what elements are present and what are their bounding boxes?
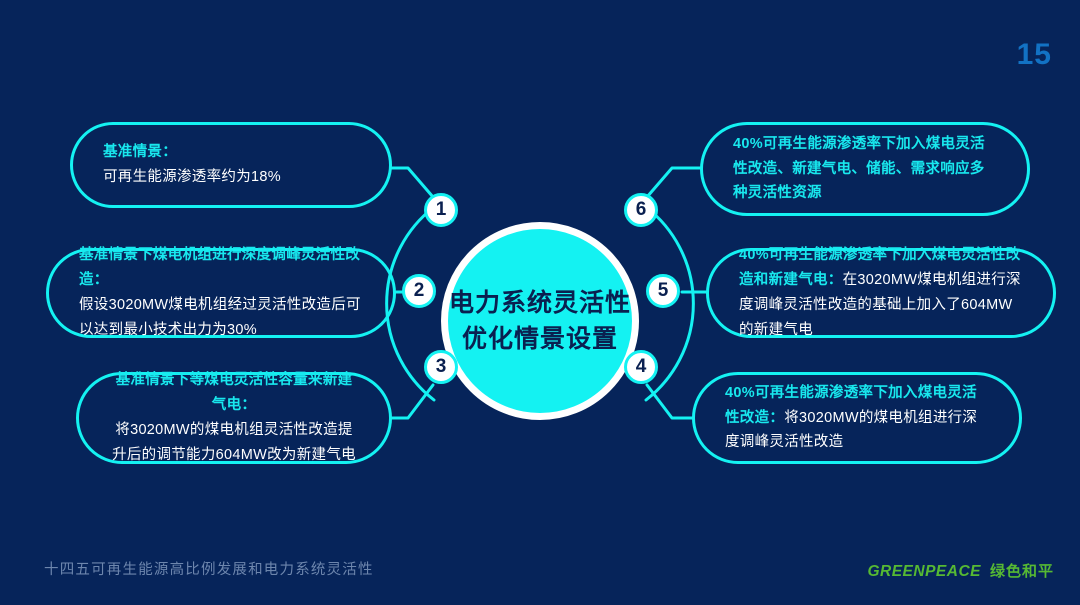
greenpeace-logo: GREENPEACE 绿色和平 [867,560,1054,581]
scenario-box-1[interactable]: 基准情景： 可再生能源渗透率约为18% [70,122,392,208]
scenario-box-2[interactable]: 基准情景下煤电机组进行深度调峰灵活性改造： 假设3020MW煤电机组经过灵活性改… [46,248,396,338]
scenario-2-body: 假设3020MW煤电机组经过灵活性改造后可以达到最小技术出力为30% [79,293,363,343]
scenario-3-body: 将3020MW的煤电机组灵活性改造提升后的调节能力604MW改为新建气电 [109,418,359,468]
scenario-2-heading: 基准情景下煤电机组进行深度调峰灵活性改造： [79,243,363,293]
hub-title-line-1: 电力系统灵活性 [449,285,631,321]
node-marker-5[interactable]: 5 [646,274,680,308]
footer-title: 十四五可再生能源高比例发展和电力系统灵活性 [44,558,374,579]
slide-canvas: 15 电力系统灵活性 优化情景设置 1 2 3 4 5 6 基准情 [0,0,1080,605]
logo-wordmark: GREENPEACE [867,563,981,581]
node-marker-6[interactable]: 6 [624,193,658,227]
logo-chinese-name: 绿色和平 [990,560,1054,581]
node-marker-1[interactable]: 1 [424,193,458,227]
node-marker-3[interactable]: 3 [424,350,458,384]
node-marker-2[interactable]: 2 [402,274,436,308]
scenario-4-text: 40%可再生能源渗透率下加入煤电灵活性改造：将3020MW的煤电机组进行深度调峰… [725,381,989,456]
scenario-6-text: 40%可再生能源渗透率下加入煤电灵活性改造、新建气电、储能、需求响应多种灵活性资… [733,132,997,207]
scenario-box-3[interactable]: 基准情景下等煤电灵活性容量来新建气电： 将3020MW的煤电机组灵活性改造提升后… [76,372,392,464]
scenario-box-4[interactable]: 40%可再生能源渗透率下加入煤电灵活性改造：将3020MW的煤电机组进行深度调峰… [692,372,1022,464]
center-hub: 电力系统灵活性 优化情景设置 [441,222,639,420]
scenario-box-6[interactable]: 40%可再生能源渗透率下加入煤电灵活性改造、新建气电、储能、需求响应多种灵活性资… [700,122,1030,216]
hub-title-line-2: 优化情景设置 [462,321,618,357]
scenario-1-heading: 基准情景： [103,140,359,165]
scenario-5-text: 40%可再生能源渗透率下加入煤电灵活性改造和新建气电：在3020MW煤电机组进行… [739,243,1023,343]
scenario-1-body: 可再生能源渗透率约为18% [103,165,359,190]
scenario-3-heading: 基准情景下等煤电灵活性容量来新建气电： [109,368,359,418]
node-marker-4[interactable]: 4 [624,350,658,384]
scenario-box-5[interactable]: 40%可再生能源渗透率下加入煤电灵活性改造和新建气电：在3020MW煤电机组进行… [706,248,1056,338]
